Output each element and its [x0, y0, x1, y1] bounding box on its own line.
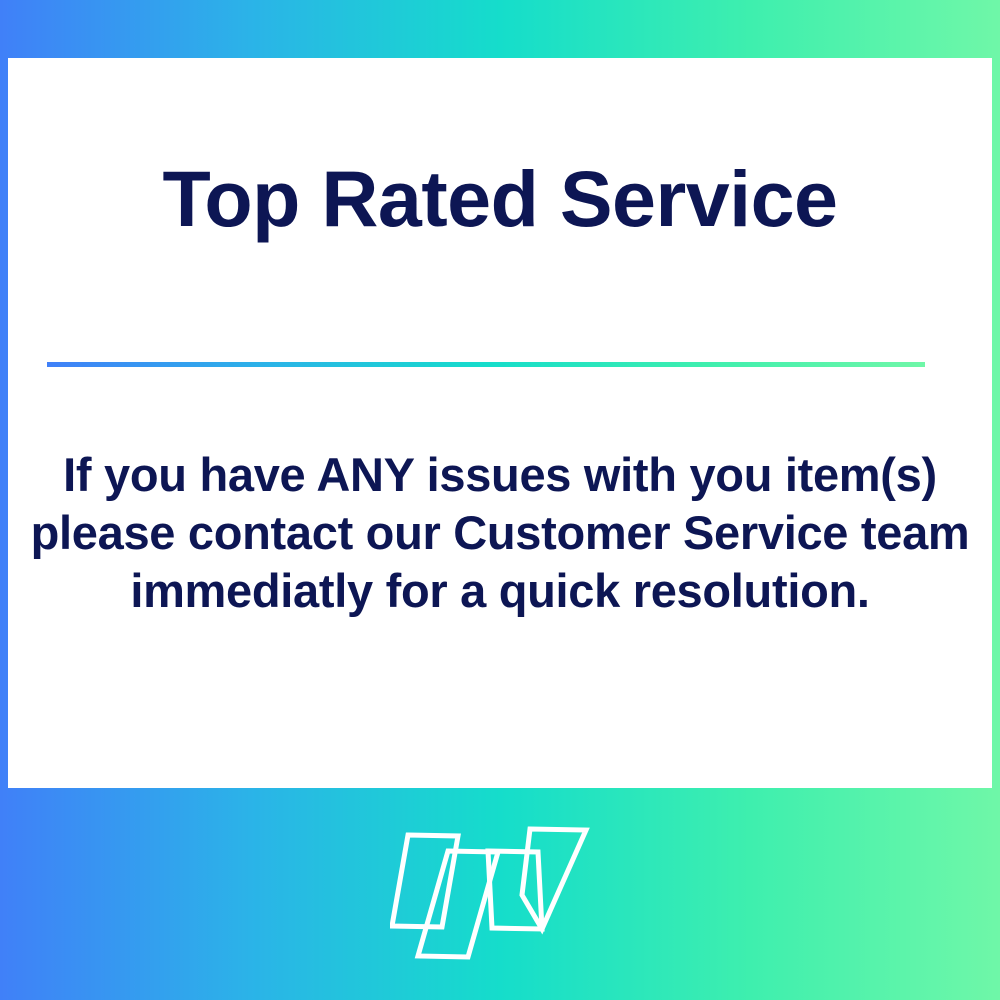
- w-monogram-logo: [390, 815, 610, 975]
- promo-card-canvas: Top Rated Service If you have ANY issues…: [0, 0, 1000, 1000]
- body-copy: If you have ANY issues with you item(s) …: [28, 446, 972, 620]
- body-copy-line-2: please contact our Customer Service team: [28, 504, 972, 562]
- gradient-divider: [47, 362, 925, 367]
- card-inner: Top Rated Service If you have ANY issues…: [8, 58, 992, 788]
- w-monogram-icon: [390, 815, 610, 975]
- body-copy-line-3: immediatly for a quick resolution.: [28, 562, 972, 620]
- body-copy-line-1: If you have ANY issues with you item(s): [28, 446, 972, 504]
- page-title: Top Rated Service: [8, 158, 992, 241]
- white-content-card: Top Rated Service If you have ANY issues…: [8, 58, 992, 788]
